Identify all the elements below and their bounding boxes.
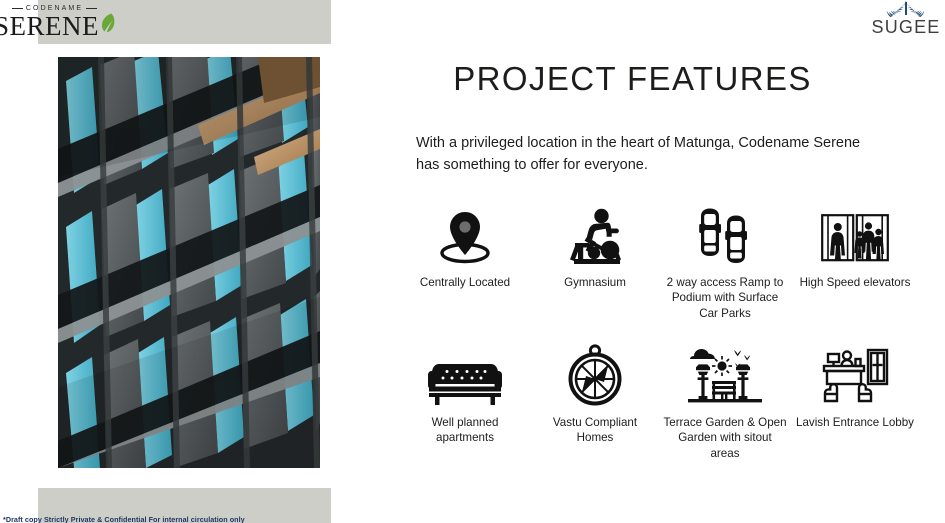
feature-label: Lavish Entrance Lobby [793,415,917,430]
location-pin-icon [436,198,494,266]
feature-label: 2 way access Ramp to Podium with Surface… [663,275,787,321]
slide-root: CODENAME SERENE SUGEE [0,0,945,523]
feature-well-planned-apartments: Well planned apartments [400,338,530,478]
feature-label: Vastu Compliant Homes [533,415,657,446]
facade-illustration [58,57,320,468]
lobby-reception-icon [820,338,890,406]
feature-label: High Speed elevators [793,275,917,290]
feature-lavish-lobby: Lavish Entrance Lobby [790,338,920,478]
page-title: PROJECT FEATURES [380,62,885,95]
feature-terrace-garden: Terrace Garden & Open Garden with sitout… [660,338,790,478]
feature-label: Centrally Located [403,275,527,290]
feature-gymnasium: Gymnasium [530,198,660,338]
developer-logo: SUGEE [867,1,945,41]
page-subtitle: With a privileged location in the heart … [416,132,886,177]
feature-vastu-compliant: Vastu Compliant Homes [530,338,660,478]
sofa-icon [425,338,505,406]
feature-label: Well planned apartments [403,415,527,446]
feature-centrally-located: Centrally Located [400,198,530,338]
feature-label: Gymnasium [533,275,657,290]
building-facade-photo [58,57,320,468]
features-grid: Centrally Located [400,198,920,478]
two-cars-icon [693,198,757,266]
compass-icon [567,338,623,406]
fountain-icon [883,1,929,17]
feature-two-way-ramp: 2 way access Ramp to Podium with Surface… [660,198,790,338]
project-logo: CODENAME SERENE [2,2,107,42]
leaf-icon [100,12,115,39]
developer-name: SUGEE [871,18,940,36]
logo-dash-left [12,8,23,9]
garden-park-icon [686,338,764,406]
logo-project-name: SERENE [0,13,99,40]
exercise-bike-icon [564,198,626,266]
elevator-icon [821,198,889,266]
feature-label: Terrace Garden & Open Garden with sitout… [663,415,787,461]
confidentiality-disclaimer: *Draft copy Strictly Private & Confident… [3,515,423,523]
feature-high-speed-elevators: High Speed elevators [790,198,920,338]
content-panel: PROJECT FEATURES With a privileged locat… [380,0,945,523]
logo-wordmark-row: SERENE [0,12,115,40]
logo-dash-right [86,8,97,9]
